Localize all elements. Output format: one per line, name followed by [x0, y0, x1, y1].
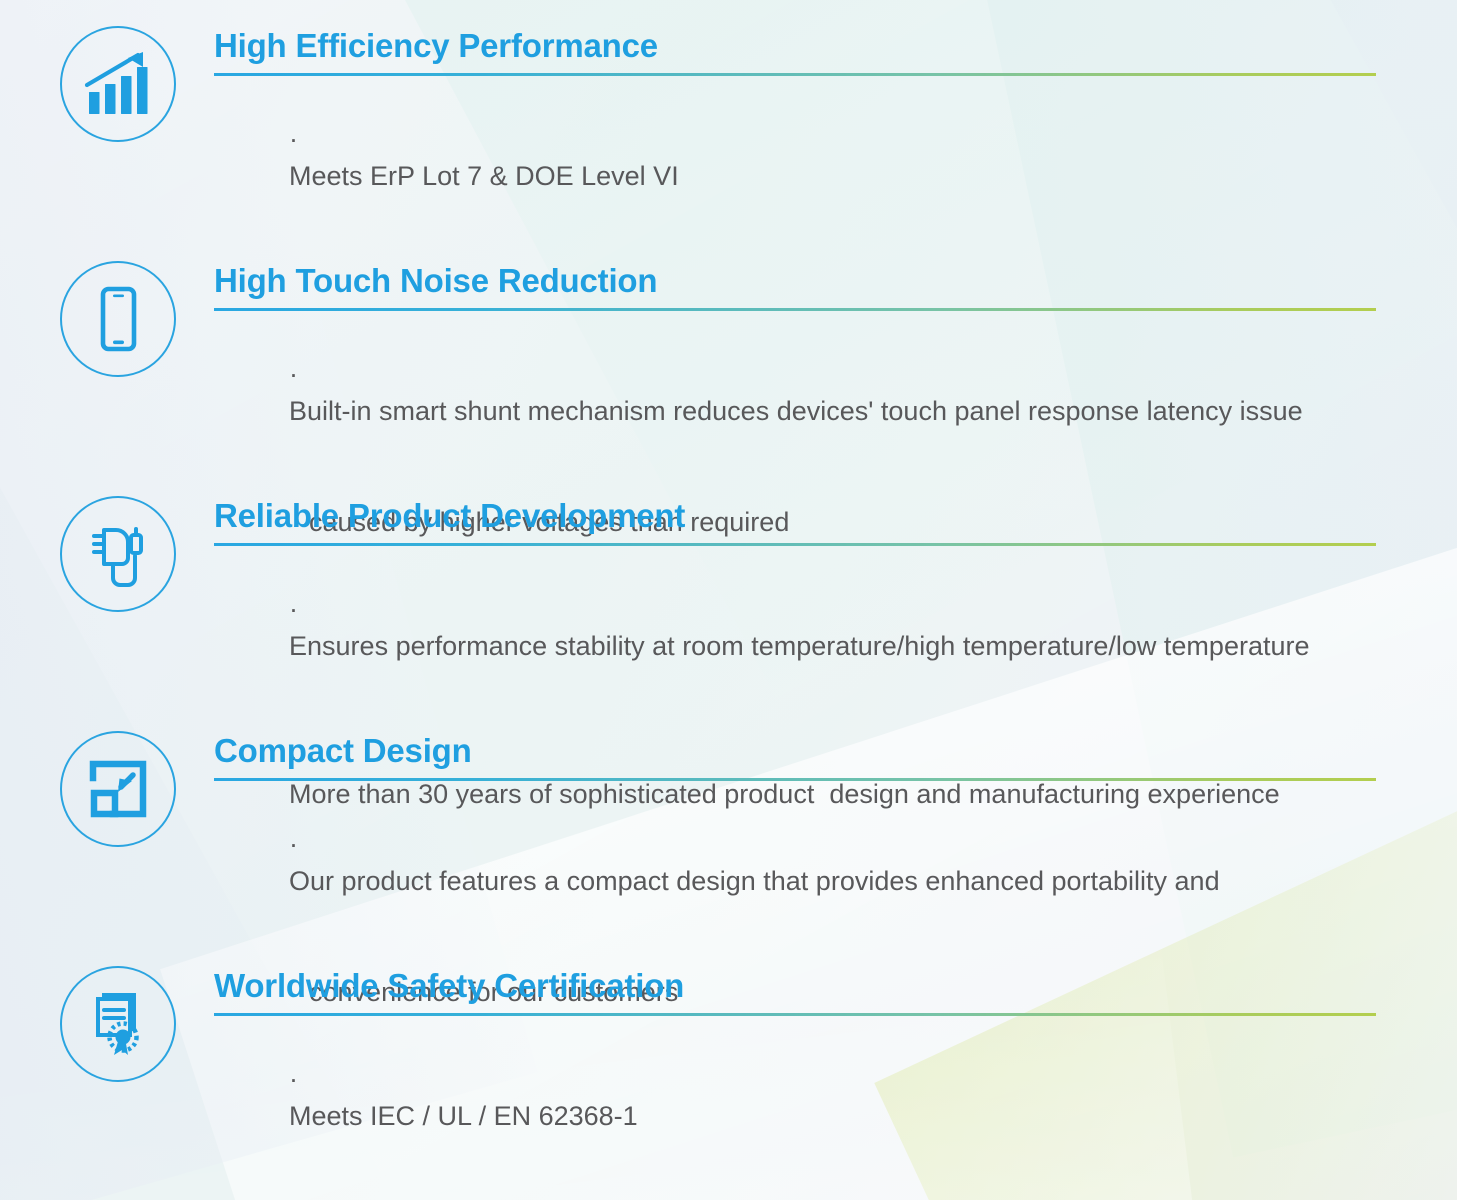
power-adapter-icon [60, 496, 176, 612]
bullet-marker: · [289, 1064, 298, 1094]
bullet-text: Our product features a compact design th… [289, 866, 1220, 896]
bullet-marker: · [289, 594, 298, 624]
feature-text-column: High Efficiency Performance · Meets ErP … [214, 24, 1457, 232]
feature-title: Reliable Product Development [214, 498, 1457, 534]
feature-bullet: · Built-in smart shunt mechanism reduces… [214, 319, 1457, 467]
compact-resize-icon [60, 731, 176, 847]
bullet-text: Meets IEC / UL / EN 62368-1 [289, 1101, 638, 1131]
feature-bullet: · Our product features a compact design … [214, 789, 1457, 937]
bullet-text: Built-in smart shunt mechanism reduces d… [289, 396, 1303, 426]
certificate-seal-icon [60, 966, 176, 1082]
feature-divider [214, 543, 1376, 546]
bullet-text: Ensures performance stability at room te… [289, 631, 1309, 661]
smartphone-icon [60, 261, 176, 377]
feature-icon-wrap [58, 494, 178, 614]
bar-chart-growth-icon [60, 26, 176, 142]
feature-text-column: Worldwide Safety Certification · Meets I… [214, 964, 1457, 1172]
feature-bullet: · Ensures performance stability at room … [214, 554, 1457, 702]
feature-divider [214, 778, 1376, 781]
feature-item-high-efficiency-performance: High Efficiency Performance · Meets ErP … [0, 24, 1457, 232]
feature-icon-wrap [58, 964, 178, 1084]
feature-bullet-list: · Meets ErP Lot 7 & DOE Level VI [214, 84, 1457, 232]
feature-bullet: · Meets IEC / UL / EN 62368-1 [214, 1024, 1457, 1172]
bullet-marker: · [289, 829, 298, 859]
feature-icon-wrap [58, 729, 178, 849]
feature-title: High Touch Noise Reduction [214, 263, 1457, 299]
feature-divider [214, 1013, 1376, 1016]
feature-icon-wrap [58, 24, 178, 144]
bullet-marker: · [289, 124, 298, 154]
feature-divider [214, 308, 1376, 311]
bullet-text: Meets ErP Lot 7 & DOE Level VI [289, 161, 679, 191]
feature-divider [214, 73, 1376, 76]
feature-item-worldwide-safety-certification: Worldwide Safety Certification · Meets I… [0, 964, 1457, 1172]
feature-bullet-list: · Meets IEC / UL / EN 62368-1 [214, 1024, 1457, 1172]
feature-title: Compact Design [214, 733, 1457, 769]
bullet-marker: · [289, 359, 298, 389]
feature-icon-wrap [58, 259, 178, 379]
feature-list: High Efficiency Performance · Meets ErP … [0, 0, 1457, 1200]
feature-bullet: · Meets ErP Lot 7 & DOE Level VI [214, 84, 1457, 232]
feature-title: High Efficiency Performance [214, 28, 1457, 64]
feature-title: Worldwide Safety Certification [214, 968, 1457, 1004]
